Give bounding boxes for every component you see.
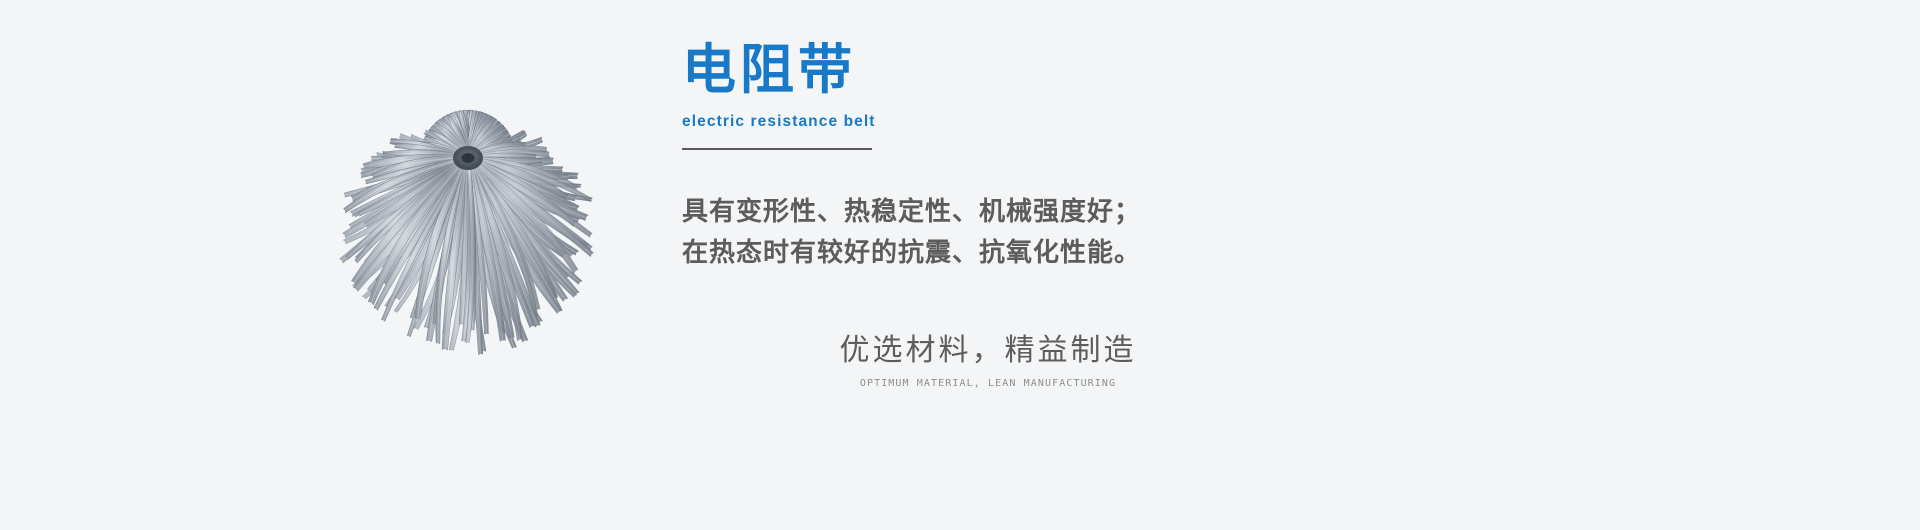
title-divider [682,148,872,150]
description-line-1: 具有变形性、热稳定性、机械强度好； [682,192,1382,233]
product-description: 具有变形性、热稳定性、机械强度好； 在热态时有较好的抗震、抗氧化性能。 [682,192,1382,274]
headline-block: 电阻带 electric resistance belt 具有变形性、热稳定性、… [682,40,1382,274]
description-line-2: 在热态时有较好的抗震、抗氧化性能。 [682,233,1382,274]
slogan-block: 优选材料，精益制造 OPTIMUM MATERIAL, LEAN MANUFAC… [778,325,1198,389]
product-image [290,30,680,450]
page-title: 电阻带 [682,40,1382,99]
product-banner: 电阻带 electric resistance belt 具有变形性、热稳定性、… [0,0,1920,530]
page-subtitle: electric resistance belt [682,113,1382,131]
slogan-english: OPTIMUM MATERIAL, LEAN MANUFACTURING [778,378,1198,389]
slogan-chinese: 优选材料，精益制造 [778,325,1198,369]
resistance-belt-illustration [290,30,680,450]
